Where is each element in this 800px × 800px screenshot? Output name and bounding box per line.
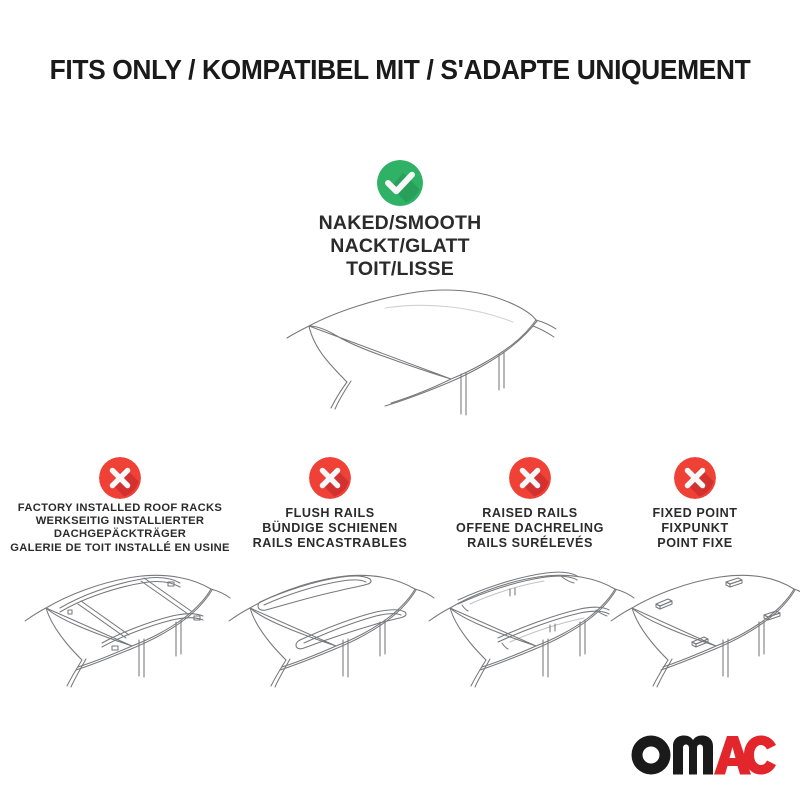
- infographic-page: FITS ONLY / KOMPATIBEL MIT / S'ADAPTE UN…: [0, 0, 800, 800]
- naked-smooth-roof-illustration: [265, 278, 565, 428]
- page-title: FITS ONLY / KOMPATIBEL MIT / S'ADAPTE UN…: [16, 54, 784, 86]
- compatible-label: NAKED/SMOOTH NACKT/GLATT TOIT/LISSE: [240, 212, 560, 281]
- incompatible-label-factory-roof-racks: FACTORY INSTALLED ROOF RACKS WERKSEITIG …: [0, 502, 240, 555]
- incompatible-label-flush-rails: FLUSH RAILS BÜNDIGE SCHIENEN RAILS ENCAS…: [225, 506, 435, 551]
- flush-rails-illustration: [212, 548, 437, 698]
- factory-roof-rack-illustration: [8, 548, 233, 698]
- x-circle-icon: [99, 457, 141, 499]
- x-circle-icon: [309, 457, 351, 499]
- fixed-point-illustration: [598, 548, 800, 698]
- check-circle-icon: [377, 160, 423, 206]
- omac-logo: [628, 732, 778, 778]
- x-circle-icon: [674, 457, 716, 499]
- incompatible-label-fixed-point: FIXED POINT FIXPUNKT POINT FIXE: [600, 506, 790, 551]
- x-circle-icon: [509, 457, 551, 499]
